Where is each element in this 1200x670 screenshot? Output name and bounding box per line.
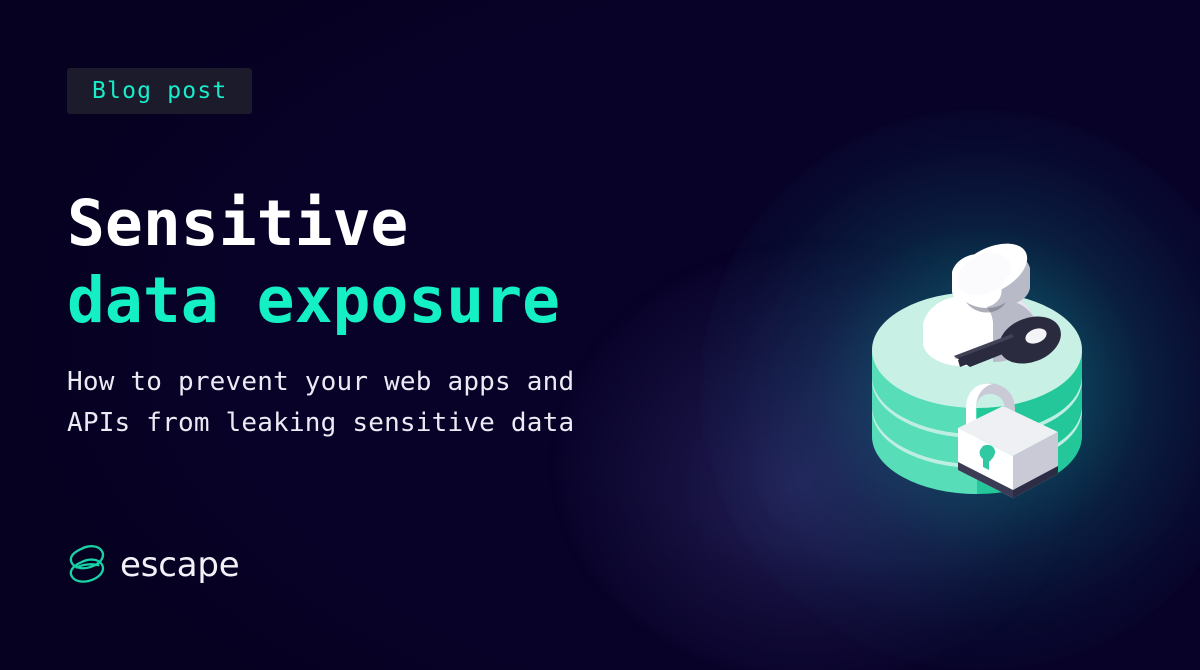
page-title: Sensitive data exposure <box>67 186 707 340</box>
hero-illustration <box>862 240 1092 510</box>
hero-banner: Blog post Sensitive data exposure How to… <box>0 0 1200 670</box>
escape-logo-icon <box>67 543 109 587</box>
content-column: Blog post Sensitive data exposure How to… <box>67 0 707 670</box>
category-badge: Blog post <box>67 68 252 114</box>
page-subtitle: How to prevent your web apps and APIs fr… <box>67 362 687 443</box>
category-badge-label: Blog post <box>92 78 227 104</box>
page-title-line-2: data exposure <box>67 263 707 340</box>
page-title-line-1: Sensitive <box>67 186 707 263</box>
page-subtitle-line-2: APIs from leaking sensitive data <box>67 403 687 444</box>
escape-wordmark: escape <box>120 545 239 585</box>
page-subtitle-line-1: How to prevent your web apps and <box>67 362 687 403</box>
brand-logo: escape <box>67 543 239 587</box>
